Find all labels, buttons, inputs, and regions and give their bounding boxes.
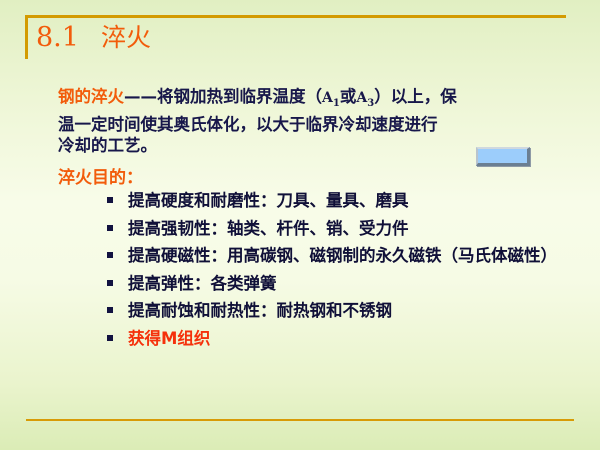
blue-rectangle-shape — [476, 147, 530, 166]
bullet-square-icon — [107, 280, 113, 286]
definition-term: 钢的淬火 — [58, 87, 124, 106]
decorative-rule-bottom — [26, 419, 574, 421]
bullet-square-icon — [107, 307, 113, 313]
list-item-label: 获得M组织 — [128, 329, 210, 348]
definition-conjunction: 或 — [340, 87, 357, 106]
definition-line1-tail: ）以上，保 — [374, 87, 457, 106]
list-item: 提高弹性：各类弹簧 — [104, 273, 586, 294]
purpose-heading: 淬火目的： — [58, 163, 143, 188]
definition-paragraph: 钢的淬火——将钢加热到临界温度（A1或A3）以上，保温一定时间使其奥氏体化，以大… — [58, 86, 570, 156]
decorative-rule-left — [25, 15, 28, 59]
list-item: 提高硬度和耐磨性：刀具、量具、磨具 — [104, 190, 586, 211]
list-item-label: 提高耐蚀和耐热性：耐热钢和不锈钢 — [128, 301, 392, 320]
symbol-a1-subscript: 1 — [333, 98, 340, 109]
list-item-label: 提高硬度和耐磨性：刀具、量具、磨具 — [128, 191, 409, 210]
list-item: 提高硬磁性：用高碳钢、磁钢制的永久磁铁（马氏体磁性） — [104, 245, 586, 266]
list-item-label: 提高弹性：各类弹簧 — [128, 274, 277, 293]
purpose-bullet-list: 提高硬度和耐磨性：刀具、量具、磨具 提高强韧性：轴类、杆件、销、受力件 提高硬磁… — [104, 190, 586, 355]
slide-title-text: 淬火 — [101, 23, 151, 52]
definition-dash: —— — [124, 87, 157, 106]
slide-title-number: 8.1 — [36, 22, 79, 53]
slide-canvas: 8.1淬火 钢的淬火——将钢加热到临界温度（A1或A3）以上，保温一定时间使其奥… — [0, 0, 600, 450]
slide-title: 8.1淬火 — [36, 22, 151, 54]
bullet-square-icon — [107, 335, 113, 341]
list-item: 提高耐蚀和耐热性：耐热钢和不锈钢 — [104, 300, 586, 321]
symbol-a3-base: A — [356, 90, 367, 106]
symbol-a1-base: A — [322, 90, 333, 106]
critical-temp-symbol-a1: A1 — [322, 90, 340, 106]
list-item: 提高强韧性：轴类、杆件、销、受力件 — [104, 218, 586, 239]
list-item-label: 提高强韧性：轴类、杆件、销、受力件 — [128, 219, 409, 238]
bullet-square-icon — [107, 197, 113, 203]
decorative-rule-top — [25, 15, 566, 18]
list-item-label: 提高硬磁性：用高碳钢、磁钢制的永久磁铁（马氏体磁性） — [128, 246, 557, 265]
bullet-square-icon — [107, 252, 113, 258]
critical-temp-symbol-a3: A3 — [356, 90, 374, 106]
definition-line1-lead: 将钢加热到临界温度（ — [157, 87, 322, 106]
bullet-square-icon — [107, 225, 113, 231]
list-item: 获得M组织 — [104, 328, 586, 349]
definition-line2: 温一定时间使其奥氏体化，以大于临界冷却速度进行 — [58, 114, 570, 135]
